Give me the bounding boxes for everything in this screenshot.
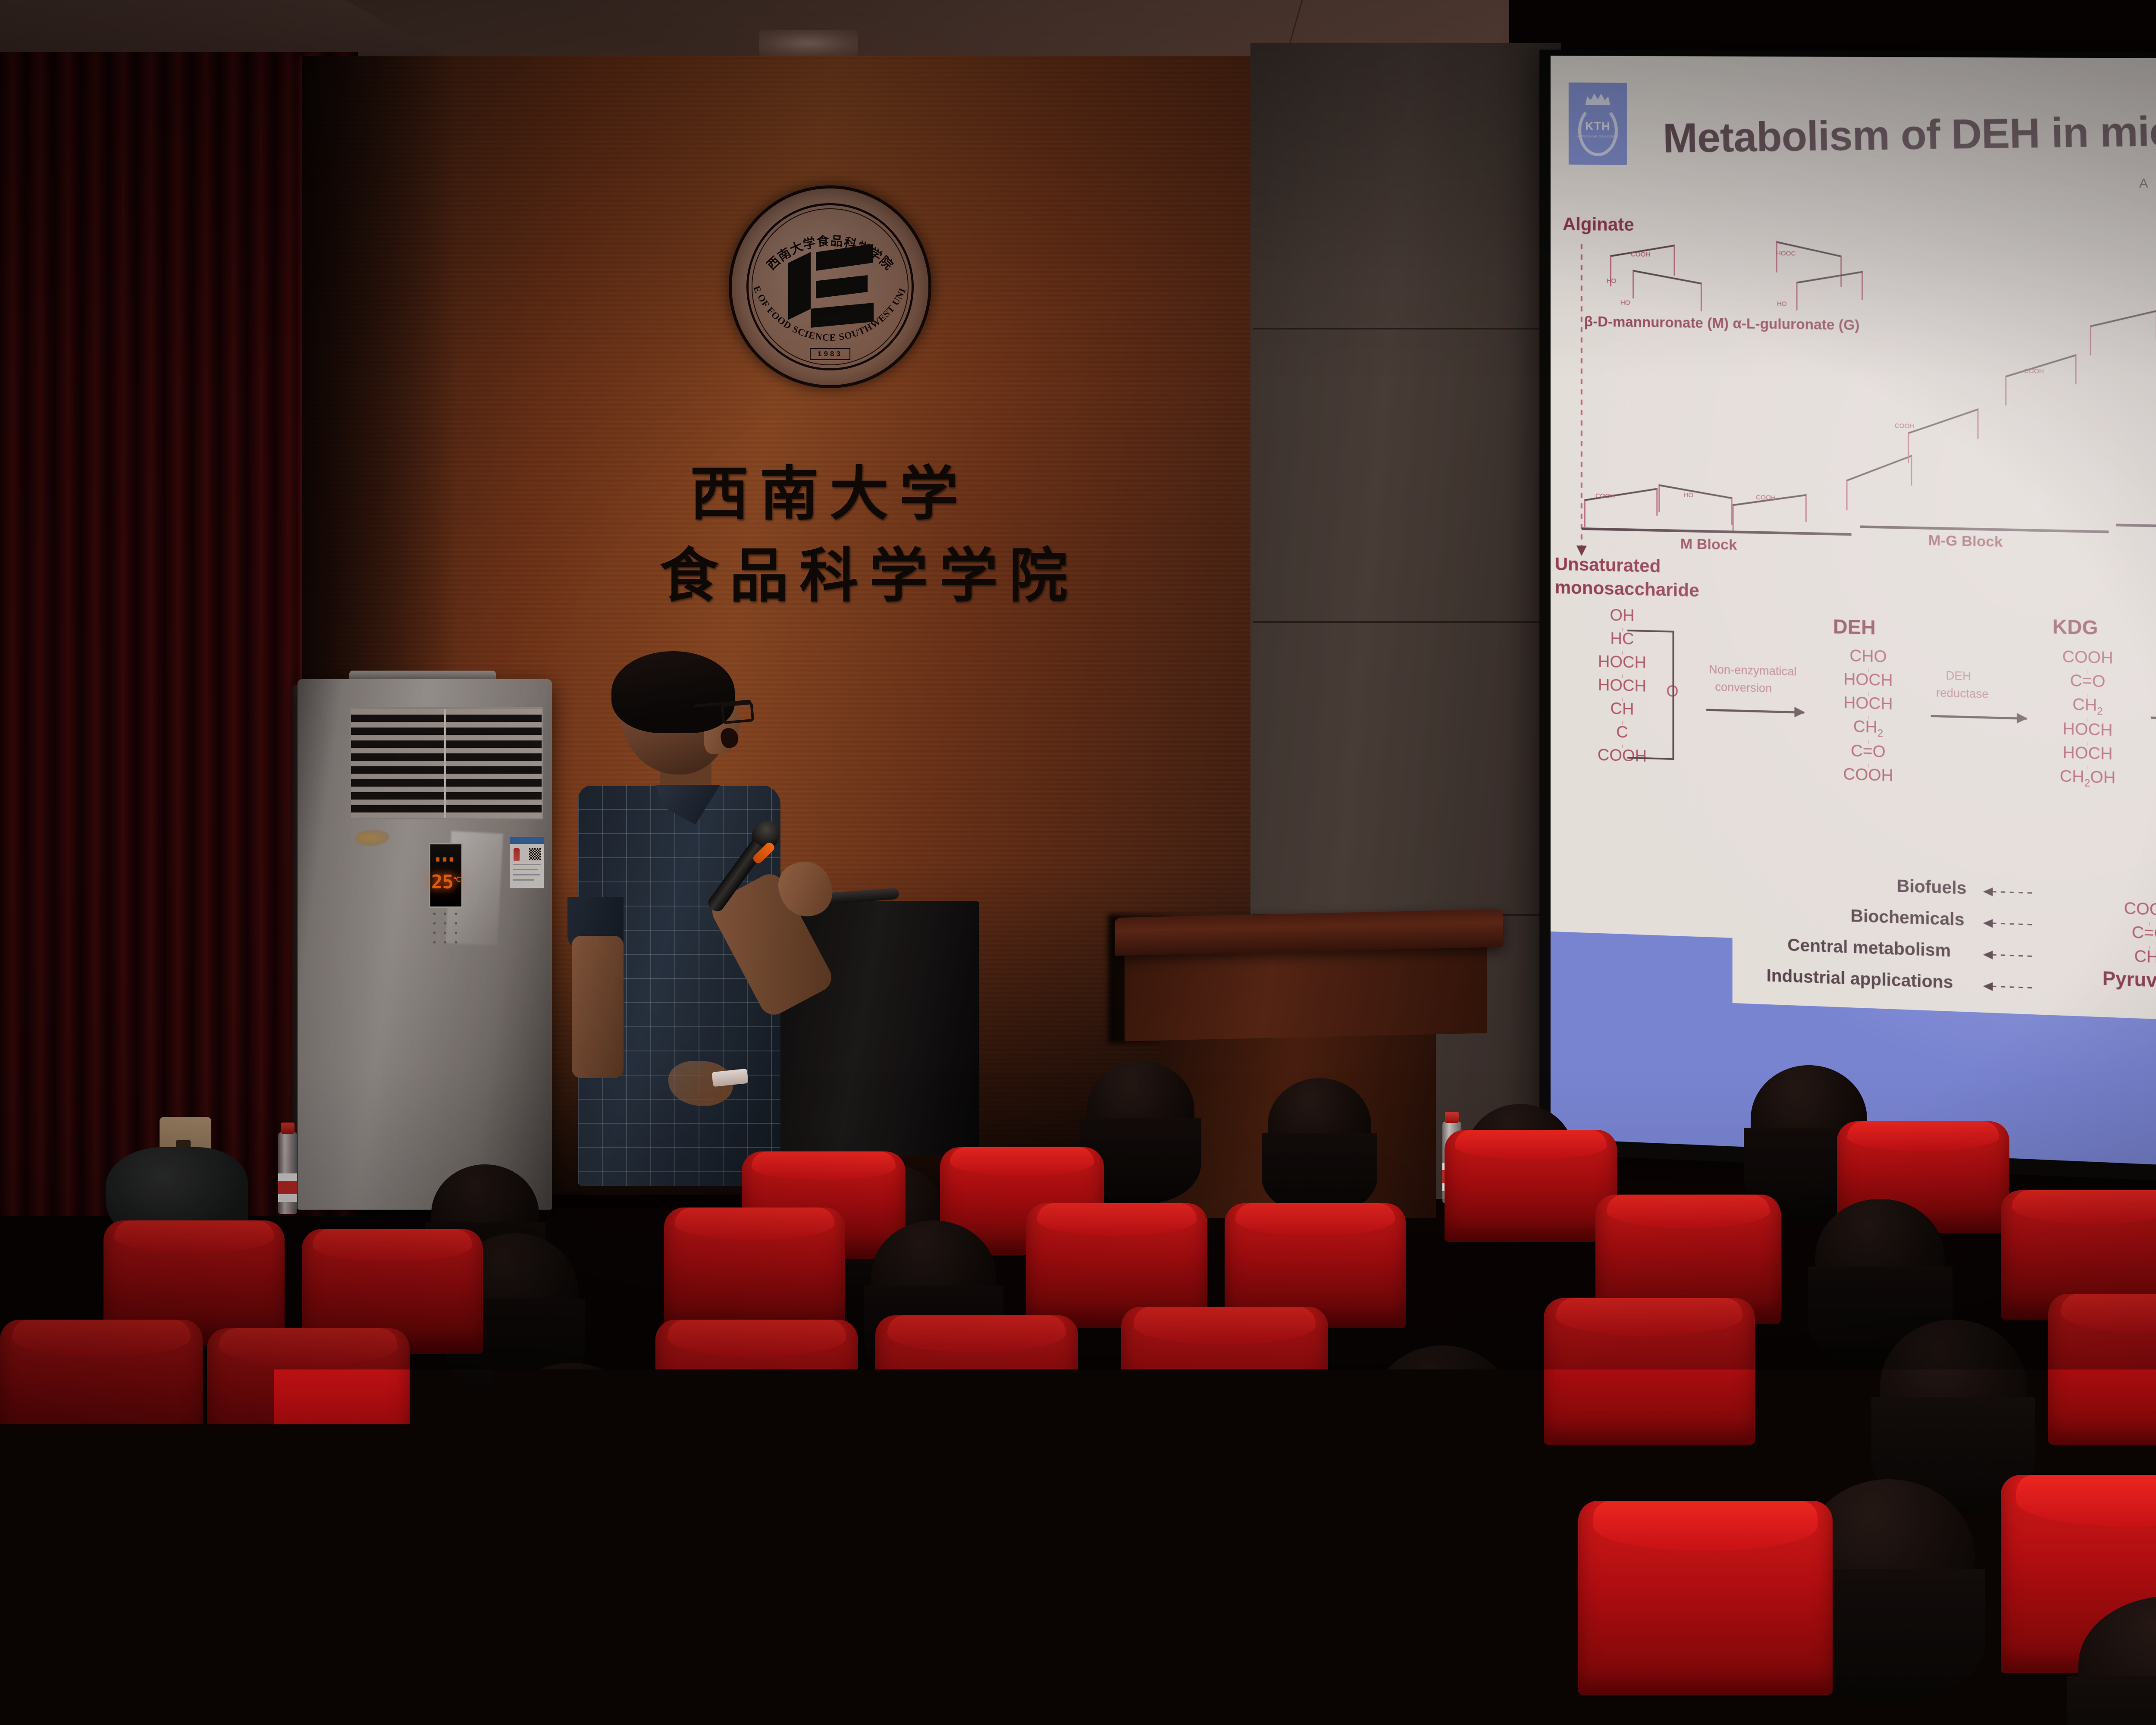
chain-ring-2	[1658, 484, 1732, 525]
emblem-founding-year: 1983	[810, 348, 850, 360]
label-unsaturated-line2: monosaccharide	[1555, 577, 1699, 601]
seat	[655, 1320, 858, 1462]
label-unsaturated-line1: Unsaturated	[1555, 554, 1661, 577]
wall-chinese-college-name: 食品科学学院	[660, 528, 1079, 613]
ac-vent-grille	[349, 707, 543, 819]
presenter-arm-left	[572, 936, 624, 1078]
ac-display-panel[interactable]: 25℃	[429, 843, 463, 908]
underbar-mg-block	[1860, 525, 2109, 533]
output-biofuels: Biofuels	[1897, 876, 1967, 898]
ac-energy-label-sticker	[510, 837, 544, 888]
ac-temperature-unit: ℃	[453, 875, 461, 883]
label-pyruvate: Pyruvate	[2103, 968, 2156, 993]
emblem-monogram-icon	[785, 241, 875, 332]
seat	[875, 1315, 1078, 1458]
enzyme-label-2-line1: DEH	[1946, 669, 1971, 683]
lecture-hall-scene: 西南大学食品科学学院 COLLEGE OF FOOD SCIENCE SOUTH…	[0, 0, 2156, 1725]
arrow-output-1	[1992, 891, 2034, 894]
wall-chinese-university-name: 西南大学	[690, 446, 969, 531]
chain-ring-6	[2005, 354, 2076, 406]
bottle-label	[278, 1173, 297, 1202]
seat	[293, 1483, 535, 1665]
crown-icon	[1585, 92, 1610, 105]
seat	[1190, 1535, 1440, 1725]
ring-bracket-side	[1672, 631, 1674, 760]
formula-deh: CHOHOCHHOCH CH2C=OCOOH	[1820, 644, 1916, 789]
label-alginate-monomers: β-D-mannuronate (M) α-L-guluronate (G)	[1584, 313, 1860, 333]
underbar-g-block	[2116, 524, 2156, 530]
ceiling-recessed-light	[759, 30, 858, 56]
audience-head	[1268, 1078, 1371, 1173]
audience-head	[1815, 1199, 1945, 1315]
seat	[1121, 1307, 1328, 1453]
ac-temperature-value: 25	[431, 871, 453, 893]
seat	[1578, 1501, 1833, 1695]
ac-temperature-display: 25℃	[431, 871, 461, 893]
arrow-step-2	[1931, 715, 2027, 720]
seat	[673, 1466, 918, 1652]
projection-screen-frame: KTH VETENSKAP OCH KONST Metabolism of DE…	[1539, 50, 2156, 1201]
audience-head	[1087, 1061, 1194, 1160]
seat	[1544, 1298, 1755, 1445]
enzyme-label-1-line2: conversion	[1715, 681, 1772, 696]
ac-status-dots-icon	[436, 857, 456, 862]
plaster-seam-2	[1253, 621, 1561, 623]
seat	[664, 1207, 845, 1333]
output-central-metabolism: Central metabolism	[1787, 935, 1951, 961]
sticker-illustration-icon	[514, 848, 520, 861]
presenter	[552, 655, 914, 1186]
formula-pyruvate: COOHC=OCH2	[2107, 897, 2156, 972]
ring-mannuronate-b	[1633, 270, 1702, 311]
audience-head	[1880, 1320, 2027, 1453]
label-m-block: M Block	[1680, 536, 1737, 554]
label-kdg: KDG	[2053, 615, 2098, 640]
slide-bottom-band-step	[1551, 931, 1733, 1003]
audience-head	[1371, 1345, 1514, 1475]
audience-head	[500, 1363, 642, 1492]
formula-unsaturated: OHHCHOCH HOCHCHCCOOH	[1579, 603, 1666, 769]
arrow-output-2	[1992, 922, 2034, 925]
kth-logo-subtitle: VETENSKAP OCH KONST	[1576, 135, 1619, 139]
bottle-cap	[281, 1123, 295, 1134]
plaster-seam-1	[1253, 328, 1561, 329]
enzyme-label-1-line1: Non-enzymatical	[1709, 663, 1797, 679]
output-biochemicals: Biochemicals	[1851, 906, 1965, 930]
arrow-alginate-to-monosaccharide	[1581, 244, 1583, 546]
label-deh: DEH	[1833, 615, 1876, 639]
seat	[0, 1320, 203, 1462]
ceiling-panel-seam	[594, 0, 1303, 65]
arrow-output-4	[1992, 986, 2034, 989]
arrow-output-3	[1992, 954, 2034, 957]
arrow-step-1	[1706, 709, 1804, 714]
chain-ring-5	[1908, 408, 1978, 463]
seat	[927, 1462, 1173, 1647]
seat	[2048, 1294, 2156, 1445]
label-mg-block: M-G Block	[1928, 532, 2003, 551]
label-alginate: Alginate	[1563, 214, 1634, 235]
arrow-step-3	[2151, 717, 2156, 721]
kth-logo: KTH VETENSKAP OCH KONST	[1569, 82, 1627, 165]
chain-ring-4	[1846, 455, 1912, 510]
presenter-hair	[611, 651, 735, 733]
ac-control-buttons[interactable]	[429, 909, 463, 947]
ac-grille-divider	[444, 709, 446, 818]
output-industrial-applications: Industrial applications	[1767, 966, 1953, 992]
projection-screen[interactable]: KTH VETENSKAP OCH KONST Metabolism of DE…	[1551, 56, 2156, 1185]
seat	[1445, 1130, 1617, 1242]
university-emblem: 西南大学食品科学学院 COLLEGE OF FOOD SCIENCE SOUTH…	[729, 185, 931, 388]
enzyme-label-2-line2: reductase	[1936, 686, 1989, 701]
water-bottle-left	[278, 1132, 297, 1214]
formula-kdg: COOHC=OCH2 HOCHHOCHCH2OH	[2037, 645, 2139, 792]
panel-letter-top: A	[2139, 176, 2148, 191]
seat	[207, 1328, 410, 1471]
underbar-m-block	[1582, 527, 1852, 536]
qr-code-icon	[529, 848, 541, 860]
bottle-cap	[1445, 1112, 1459, 1123]
kth-logo-text: KTH	[1585, 120, 1611, 133]
lectern-body	[1125, 942, 1487, 1041]
slide-title: Metabolism of DEH in microorganism	[1662, 104, 2156, 163]
chain-ring-7	[2090, 310, 2156, 355]
